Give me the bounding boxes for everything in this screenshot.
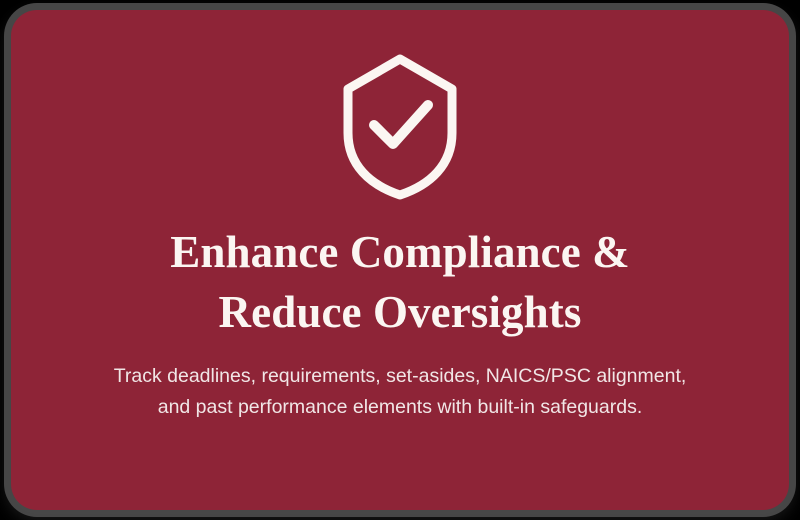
shield-check-icon [340, 53, 460, 201]
checkmark-path [374, 105, 428, 144]
shield-outline-path [348, 59, 452, 195]
shield-check-icon-svg [340, 53, 460, 201]
card-title: Enhance Compliance & Reduce Oversights [100, 223, 700, 343]
card-description: Track deadlines, requirements, set-aside… [58, 361, 742, 425]
screenshot-canvas: Enhance Compliance & Reduce Oversights T… [0, 0, 800, 520]
feature-card: Enhance Compliance & Reduce Oversights T… [11, 10, 789, 510]
